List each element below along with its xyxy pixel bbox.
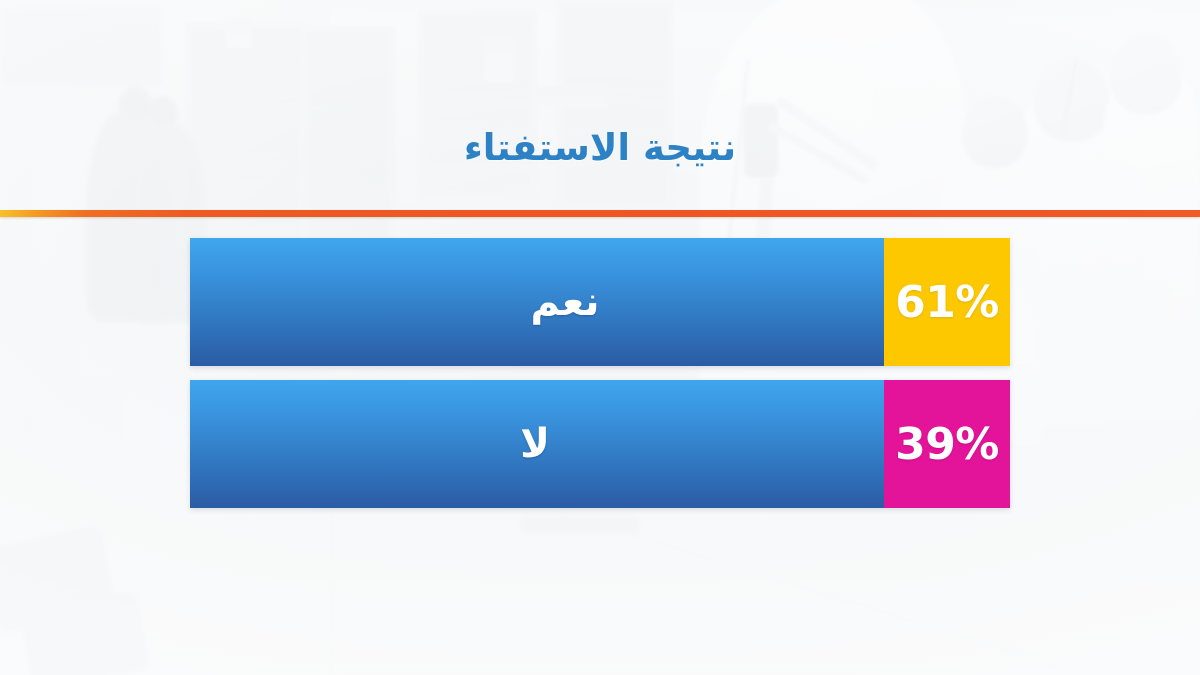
poll-percent-yes: 61% [884,238,1010,366]
face-shield [1110,34,1182,114]
poll-option-row-yes[interactable]: 61% نعم [190,238,1010,366]
wall-sign [533,86,607,108]
poll-option-row-no[interactable]: 39% لا [190,380,1010,508]
ppe-worker-figure [1104,60,1200,420]
poll-option-label-yes: نعم [531,279,600,325]
poll-results-chart: 61% نعم 39% لا [190,238,1010,508]
wall-sign [483,36,515,82]
accent-divider-line [0,210,1200,217]
trolley [520,516,640,534]
wall-sign [226,18,252,48]
poll-option-label-no: لا [520,421,550,467]
poll-bar-yes: نعم [190,238,884,366]
poll-percent-no: 39% [884,380,1010,508]
poll-bar-no: لا [190,380,884,508]
broadcast-poll-graphic: نتيجة الاستفتاء 61% نعم 39% لا [0,0,1200,675]
page-title: نتيجة الاستفتاء [0,126,1200,169]
doorway [418,10,538,200]
wall-board [2,8,162,86]
floor-seam [330,510,332,675]
